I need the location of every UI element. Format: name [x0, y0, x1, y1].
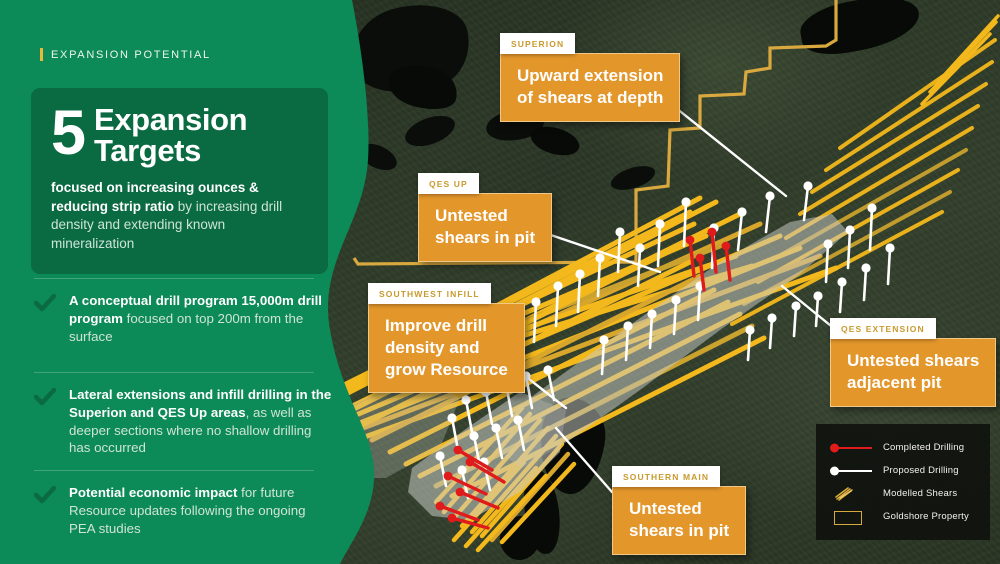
callout-line-2: shears in pit [435, 227, 535, 249]
callout-tag: SOUTHWEST INFILL [368, 283, 491, 304]
bullet-item: Potential economic impact for future Res… [34, 484, 334, 537]
bullet-text: Potential economic impact for future Res… [69, 484, 334, 537]
headline-line-2: Targets [94, 135, 247, 166]
divider [34, 372, 314, 373]
kicker-label: EXPANSION POTENTIAL [51, 49, 211, 61]
callout-line-1: Untested [629, 498, 729, 520]
bullet-item: A conceptual drill program 15,000m drill… [34, 292, 334, 345]
callout-body: Upward extension of shears at depth [500, 53, 680, 122]
bullet-text: A conceptual drill program 15,000m drill… [69, 292, 334, 345]
callout-body: Improve drill density and grow Resource [368, 303, 525, 393]
map-legend: Completed Drilling Proposed Drilling [816, 424, 990, 540]
callout-line-1: Improve drill [385, 315, 508, 337]
check-icon [34, 388, 56, 411]
bullet-bold: Potential economic impact [69, 485, 237, 500]
callout-tag: QES UP [418, 173, 479, 194]
headline: 5 Expansion Targets [51, 104, 310, 166]
accent-bar-icon [40, 48, 43, 61]
callout-line-1: Upward extension [517, 65, 663, 87]
callout-tag: SOUTHERN MAIN [612, 466, 720, 487]
callout-body: Untested shears in pit [418, 193, 552, 262]
modelled-shears-icon [830, 487, 874, 501]
headline-number: 5 [51, 106, 84, 160]
headline-subtext: focused on increasing ounces & reducing … [51, 179, 310, 254]
kicker: EXPANSION POTENTIAL [40, 48, 211, 61]
callout-southwest-infill[interactable]: SOUTHWEST INFILL Improve drill density a… [368, 283, 525, 393]
goldshore-property-icon [830, 510, 874, 524]
callout-line-1: Untested [435, 205, 535, 227]
check-icon [34, 294, 56, 317]
callout-body: Untested shears adjacent pit [830, 338, 996, 407]
headline-card: 5 Expansion Targets focused on increasin… [31, 88, 328, 274]
legend-item-proposed-drilling: Proposed Drilling [830, 464, 990, 478]
legend-item-modelled-shears: Modelled Shears [830, 487, 990, 501]
divider [34, 470, 314, 471]
callout-line-2: shears in pit [629, 520, 729, 542]
callout-southern-main[interactable]: SOUTHERN MAIN Untested shears in pit [612, 466, 746, 555]
callout-line-1: Untested shears [847, 350, 979, 372]
callout-line-2: adjacent pit [847, 372, 979, 394]
callout-qes-up[interactable]: QES UP Untested shears in pit [418, 173, 552, 262]
callout-body: Untested shears in pit [612, 486, 746, 555]
callout-line-2: density and [385, 337, 508, 359]
callout-tag: QES EXTENSION [830, 318, 936, 339]
callout-tag: SUPERION [500, 33, 575, 54]
legend-item-completed-drilling: Completed Drilling [830, 441, 990, 455]
bullet-item: Lateral extensions and infill drilling i… [34, 386, 334, 457]
bullet-text: Lateral extensions and infill drilling i… [69, 386, 334, 457]
headline-line-1: Expansion [94, 104, 247, 135]
completed-drilling-icon [830, 441, 874, 455]
callout-line-3: grow Resource [385, 359, 508, 381]
slide-root: SUPERION Upward extension of shears at d… [0, 0, 1000, 564]
headline-words: Expansion Targets [94, 104, 247, 166]
left-panel-content: EXPANSION POTENTIAL 5 Expansion Targets … [0, 0, 360, 564]
callout-line-2: of shears at depth [517, 87, 663, 109]
divider [34, 278, 314, 279]
legend-label: Modelled Shears [883, 488, 957, 499]
legend-label: Goldshore Property [883, 511, 969, 522]
legend-label: Completed Drilling [883, 442, 964, 453]
callout-superion[interactable]: SUPERION Upward extension of shears at d… [500, 33, 680, 122]
check-icon [34, 486, 56, 509]
legend-label: Proposed Drilling [883, 465, 959, 476]
proposed-drilling-icon [830, 464, 874, 478]
legend-item-goldshore-property: Goldshore Property [830, 510, 990, 524]
callout-qes-extension[interactable]: QES EXTENSION Untested shears adjacent p… [830, 318, 996, 407]
